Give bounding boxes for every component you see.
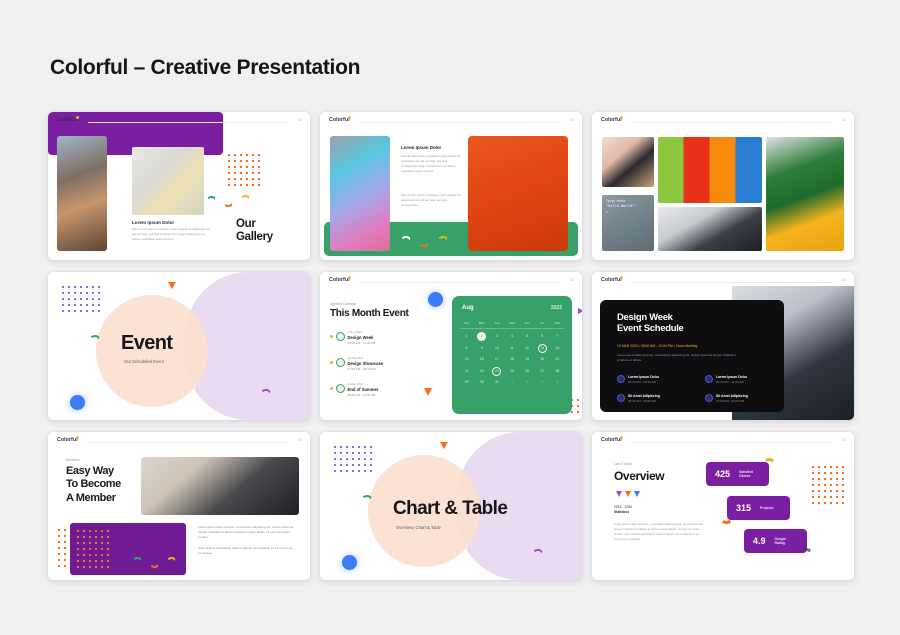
divider (632, 122, 832, 123)
calendar-day[interactable]: 30 (474, 378, 489, 387)
calendar-day[interactable]: 24 (492, 367, 501, 376)
slide-chrome: Colorful 20 (320, 112, 582, 129)
gallery-photo (132, 147, 204, 215)
calendar-day[interactable]: 31 (489, 378, 504, 387)
event-date: 24 Aug 2022 (348, 382, 379, 386)
divider (632, 442, 832, 443)
purple-arc-icon (260, 389, 272, 395)
desk-photo (57, 136, 107, 251)
schedule-meta: 13 MAR 2022 • 08:00 AM - 10:00 PM • Zoom… (617, 344, 697, 348)
stat-caption-line-2: Rating (775, 541, 786, 545)
stat-caption: Google Rating (775, 537, 787, 546)
event-time: 08:00 AM - 11:00 AM (348, 341, 376, 345)
weekday: Wed (504, 321, 519, 325)
calendar-day[interactable]: 2 (477, 332, 486, 341)
calendar-day[interactable]: 25 (504, 367, 519, 376)
logo-text: Colorful (329, 117, 350, 123)
calendar-day[interactable]: 4 (504, 332, 519, 341)
stat-caption-line-1: Google (775, 537, 787, 541)
clock-icon (617, 375, 625, 383)
weekday: Sat (550, 321, 565, 325)
calendar-day[interactable]: 1 (459, 332, 474, 341)
stat-caption-line-2: Clients (739, 474, 750, 478)
calendar-weekdays: Sun Mon Tue Wed Thu Fri Sat (459, 321, 565, 325)
stat-caption: Projects (760, 506, 773, 510)
bullet-icon (330, 387, 333, 390)
schedule-item[interactable]: Lorem Ipsum Dolor 08:00 AM - 09:30 AM (617, 375, 659, 384)
orange-triangle-icon (168, 282, 176, 289)
slide-chrome: Colorful 11 (592, 112, 854, 129)
heading-line-2: Event Schedule (617, 323, 684, 334)
blue-dot-icon (428, 292, 443, 307)
purple-triangle-icon (578, 308, 582, 314)
caption-body-2: Nam at enim ipsum voluptatem quia volupt… (401, 193, 463, 208)
green-arc-icon (132, 557, 143, 563)
purple-flag-icon (616, 491, 622, 497)
slide-grid: Colorful 14 Lorem Ipsum Dolor Nam at eni… (48, 112, 854, 580)
logo-text: Colorful (57, 437, 78, 443)
green-arc-icon (361, 495, 373, 501)
orange-arc-icon (149, 562, 160, 568)
eyebrow: Members (66, 458, 80, 462)
calendar-days[interactable]: 1234567891011121314151617181920212223242… (459, 332, 565, 387)
divider (88, 122, 288, 123)
item-title: Sit Amet Adipiscing (716, 394, 748, 398)
orange-triangle-icon (424, 388, 432, 396)
weekday: Sun (459, 321, 474, 325)
event-time: 08:00 AM - 11:00 AM (348, 393, 379, 397)
slide-heading: Chart & Table (393, 498, 507, 520)
event-title: Design Showcase (348, 361, 384, 366)
calendar-day[interactable]: 5 (520, 332, 535, 341)
event-text: 24 Aug 2022 End of Summer 08:00 AM - 11:… (348, 382, 379, 397)
page-number: 11 (842, 117, 846, 122)
stat-caption-line-1: Projects (760, 506, 773, 510)
calendar-day[interactable]: 18 (504, 355, 519, 364)
purple-arc-icon (532, 549, 544, 555)
orange-arc-icon (223, 201, 234, 207)
page-number: 27 (842, 437, 846, 442)
blue-flag-icon (634, 491, 640, 497)
event-list-item[interactable]: 13 Aug 2022 Design Showcase 07:00 PM - 0… (330, 356, 383, 371)
divider (632, 282, 832, 283)
event-date: 13 Aug 2022 (348, 356, 384, 360)
stat-caption: Satisfied Clients (739, 470, 753, 479)
stat-value: 315 (736, 503, 751, 513)
body-text-1: Lorem ipsum dolor sit amet, consectetur … (198, 525, 296, 540)
item-time: 09:30 AM - 11:00 AM (716, 380, 747, 384)
caption-block: Lorem Ipsum Dolor Nam at enim ipsum volu… (132, 220, 212, 242)
slide-chrome: Colorful 25 (48, 432, 310, 449)
dot-pattern (226, 152, 264, 188)
item-time: 08:00 AM - 09:30 AM (628, 380, 659, 384)
calendar-day[interactable]: 21 (550, 355, 565, 364)
event-list-item[interactable]: 24 Aug 2022 End of Summer 08:00 AM - 11:… (330, 382, 378, 397)
slide-heading: OurGallery (236, 218, 273, 244)
calendar-day[interactable]: 14 (550, 344, 565, 353)
logo-text: Colorful (601, 117, 622, 123)
bullet-icon (330, 335, 333, 338)
slide-subheading: Our Scheduled Event (124, 359, 164, 364)
body-text-2: Quis nostrud exercitation ullamco labori… (198, 546, 296, 556)
event-text: 13 Aug 2022 Design Showcase 07:00 PM - 0… (348, 356, 384, 371)
blue-dot-icon (342, 555, 357, 570)
orange-flag-icon (625, 491, 631, 497)
eyebrow: Agenda Calendar (330, 302, 356, 306)
item-title: Lorem Ipsum Dolor (716, 375, 747, 379)
slide-thumbnail-chart-and-table[interactable]: Chart & Table Overview, Chart & Table (320, 432, 582, 580)
logo-text: Colorful (57, 117, 78, 123)
stat-label: Statistics (614, 510, 632, 515)
caption-body: Nam at enim ipsum voluptatem quia volupt… (401, 154, 463, 174)
stat-card[interactable]: 4.9 Google Rating (744, 529, 807, 553)
camera-photo (602, 137, 654, 187)
event-date: 1 Aug 2022 (348, 330, 376, 334)
page-number: 14 (298, 117, 302, 122)
dot-pattern (60, 284, 102, 314)
page-number: 25 (298, 437, 302, 442)
divider (88, 442, 288, 443)
palette-photo (330, 136, 390, 251)
event-list-item[interactable]: 1 Aug 2022 Design Week 08:00 AM - 11:00 … (330, 330, 375, 345)
eyebrow: Last 5 years (614, 462, 632, 466)
code-text: ?php echo "Hello World!" > (606, 200, 636, 216)
slide-heading: This Month Event (330, 308, 409, 319)
leaf-photo (766, 137, 844, 251)
blue-dot-icon (70, 395, 85, 410)
calendar-day[interactable]: 3 (489, 332, 504, 341)
item-time: 10:00 AM - 02:00 PM (716, 399, 748, 403)
weekday: Mon (474, 321, 489, 325)
text-card: Lorem Ipsum Dolor Nam at enim ipsum volu… (394, 136, 469, 219)
slide-chrome: Colorful 27 (592, 432, 854, 449)
calendar-day[interactable]: 2 (520, 378, 535, 387)
page-number: 22 (570, 277, 574, 282)
yellow-arc-icon (166, 557, 177, 563)
slide-thumbnail-become-a-member[interactable]: Colorful 25 Members Easy Way To Become A… (48, 432, 310, 580)
body-text: Lorem ipsum dolor sit amet, consectetur … (614, 522, 710, 542)
event-title: Design Week (348, 335, 376, 340)
item-title: Lorem Ipsum Dolor (628, 375, 659, 379)
code-photo: ?php echo "Hello World!" > (602, 195, 654, 251)
item-title: Sit Amet Adipiscing (628, 394, 660, 398)
yellow-arc-icon (437, 236, 449, 242)
calendar-month: Aug (462, 305, 474, 311)
slide-heading: Easy Way To Become A Member (66, 465, 121, 505)
slide-thumbnail-our-gallery[interactable]: Colorful 14 Lorem Ipsum Dolor Nam at eni… (48, 112, 310, 260)
item-time: 08:30 AM - 09:00 AM (628, 399, 660, 403)
weekday: Thu (520, 321, 535, 325)
calendar-day[interactable]: 15 (459, 355, 474, 364)
logo-accent-icon (620, 436, 623, 439)
heading-line-1: Easy Way (66, 465, 114, 477)
calendar-day[interactable]: 16 (474, 355, 489, 364)
stat-card[interactable]: 315 Projects (727, 496, 790, 520)
slide-thumbnail-overview[interactable]: Colorful 27 Last 5 years Overview 2015 -… (592, 432, 854, 580)
event-title: End of Summer (348, 387, 379, 392)
slide-heading: Event (121, 332, 172, 355)
logo-text: Colorful (329, 277, 350, 283)
calendar-day[interactable]: 19 (520, 355, 535, 364)
calendar-day[interactable]: 22 (459, 367, 474, 376)
heading-line-3: A Member (66, 492, 116, 504)
logo-accent-icon (348, 276, 351, 279)
green-arc-icon (206, 196, 217, 202)
stat-card[interactable]: 425 Satisfied Clients (706, 462, 769, 486)
caption-title: Lorem Ipsum Dolor (132, 220, 212, 225)
slide-subheading: Overview, Chart & Table (396, 525, 441, 530)
logo-accent-icon (348, 116, 351, 119)
slide-thumbnail-lorem-gallery[interactable]: Colorful 20 Lorem Ipsum Dolor Nam at eni… (320, 112, 582, 260)
caption-body: Nam at enim ipsum voluptatem quia volupt… (132, 227, 212, 242)
page-number: 24 (842, 277, 846, 282)
stat-caption-line-1: Satisfied (739, 470, 753, 474)
calendar-icon (336, 358, 345, 367)
calendar-day[interactable]: 6 (535, 332, 550, 341)
divider (360, 122, 560, 123)
calendar-day[interactable]: 7 (550, 332, 565, 341)
slide-thumbnail-photo-grid[interactable]: Colorful 11 ?php echo "Hello World!" > (592, 112, 854, 260)
workstation-photo (658, 207, 762, 251)
event-text: 1 Aug 2022 Design Week 08:00 AM - 11:00 … (348, 330, 376, 345)
page-number: 20 (570, 117, 574, 122)
calendar-day[interactable]: 13 (538, 344, 547, 353)
calendar-icon (336, 384, 345, 393)
dot-pattern (810, 464, 844, 506)
white-arc-icon (400, 236, 412, 242)
purple-card (70, 523, 186, 575)
caption-title: Lorem Ipsum Dolor (401, 145, 441, 150)
slide-chrome: Colorful 22 (320, 272, 582, 289)
weekday: Tue (489, 321, 504, 325)
paint-rollers-photo (658, 137, 762, 203)
bullet-icon (330, 361, 333, 364)
calendar-day[interactable]: 12 (520, 344, 535, 353)
calendar-day[interactable]: 26 (520, 367, 535, 376)
dot-pattern (332, 444, 374, 474)
calendar-day[interactable]: 11 (504, 344, 519, 353)
calendar-year: 2022 (551, 305, 562, 311)
clock-icon (705, 394, 713, 402)
member-photo (141, 457, 299, 515)
event-time: 07:00 PM - 08:30 AM (348, 367, 384, 371)
logo-accent-icon (76, 436, 79, 439)
slide-heading: Overview (614, 469, 664, 483)
body-block: Lorem ipsum dolor sit amet, consectetur … (198, 525, 296, 556)
dot-pattern (75, 528, 111, 570)
calendar-day[interactable]: 20 (535, 355, 550, 364)
yellow-arc-icon (240, 195, 251, 201)
schedule-body: Lorem ipsum dolor sit amet, consectetur … (617, 353, 737, 363)
clock-icon (705, 375, 713, 383)
schedule-item[interactable]: Lorem Ipsum Dolor 09:30 AM - 11:00 AM (705, 375, 747, 384)
slide-thumbnail-design-week[interactable]: Colorful 24 Design Week Event Schedule 1… (592, 272, 854, 420)
calendar-icon (336, 332, 345, 341)
calendar-day[interactable]: 27 (535, 367, 550, 376)
calendar-day[interactable]: 17 (489, 355, 504, 364)
calendar-day[interactable]: 1 (504, 378, 519, 387)
portrait-photo (468, 136, 568, 251)
calendar-day[interactable]: 3 (535, 378, 550, 387)
slide-heading: Design Week Event Schedule (617, 312, 684, 335)
stat-value: 4.9 (753, 536, 766, 546)
logo-accent-icon (76, 116, 79, 119)
slide-thumbnail-this-month-event[interactable]: Colorful 22 Agenda Calendar This Month E… (320, 272, 582, 420)
stat-block: 2015 - 2020 Statistics (614, 505, 632, 515)
logo-accent-icon (620, 116, 623, 119)
calendar-day[interactable]: 10 (489, 344, 504, 353)
divider (460, 328, 564, 329)
schedule-item[interactable]: Sit Amet Adipiscing 10:00 AM - 02:00 PM (705, 394, 748, 403)
logo-text: Colorful (601, 437, 622, 443)
divider (360, 282, 560, 283)
calendar-day[interactable]: 9 (474, 344, 489, 353)
calendar-widget[interactable]: Aug 2022 Sun Mon Tue Wed Thu Fri Sat 123… (452, 296, 572, 414)
green-arc-icon (89, 335, 101, 341)
slide-chrome: Colorful 14 (48, 112, 310, 129)
calendar-day[interactable]: 4 (550, 378, 565, 387)
weekday: Fri (535, 321, 550, 325)
calendar-day[interactable]: 8 (459, 344, 474, 353)
stat-value: 425 (715, 469, 730, 479)
calendar-day[interactable]: 29 (459, 378, 474, 387)
schedule-item[interactable]: Sit Amet Adipiscing 08:30 AM - 09:00 AM (617, 394, 660, 403)
logo-accent-icon (620, 276, 623, 279)
page-title: Colorful – Creative Presentation (50, 56, 360, 80)
schedule-card: Design Week Event Schedule 13 MAR 2022 •… (600, 300, 784, 412)
calendar-day[interactable]: 23 (474, 367, 489, 376)
calendar-day[interactable]: 28 (550, 367, 565, 376)
orange-triangle-icon (440, 442, 448, 449)
heading-line-1: Design Week (617, 312, 673, 323)
slide-thumbnail-event[interactable]: Event Our Scheduled Event (48, 272, 310, 420)
logo-text: Colorful (601, 277, 622, 283)
clock-icon (617, 394, 625, 402)
heading-line-2: To Become (66, 478, 121, 490)
